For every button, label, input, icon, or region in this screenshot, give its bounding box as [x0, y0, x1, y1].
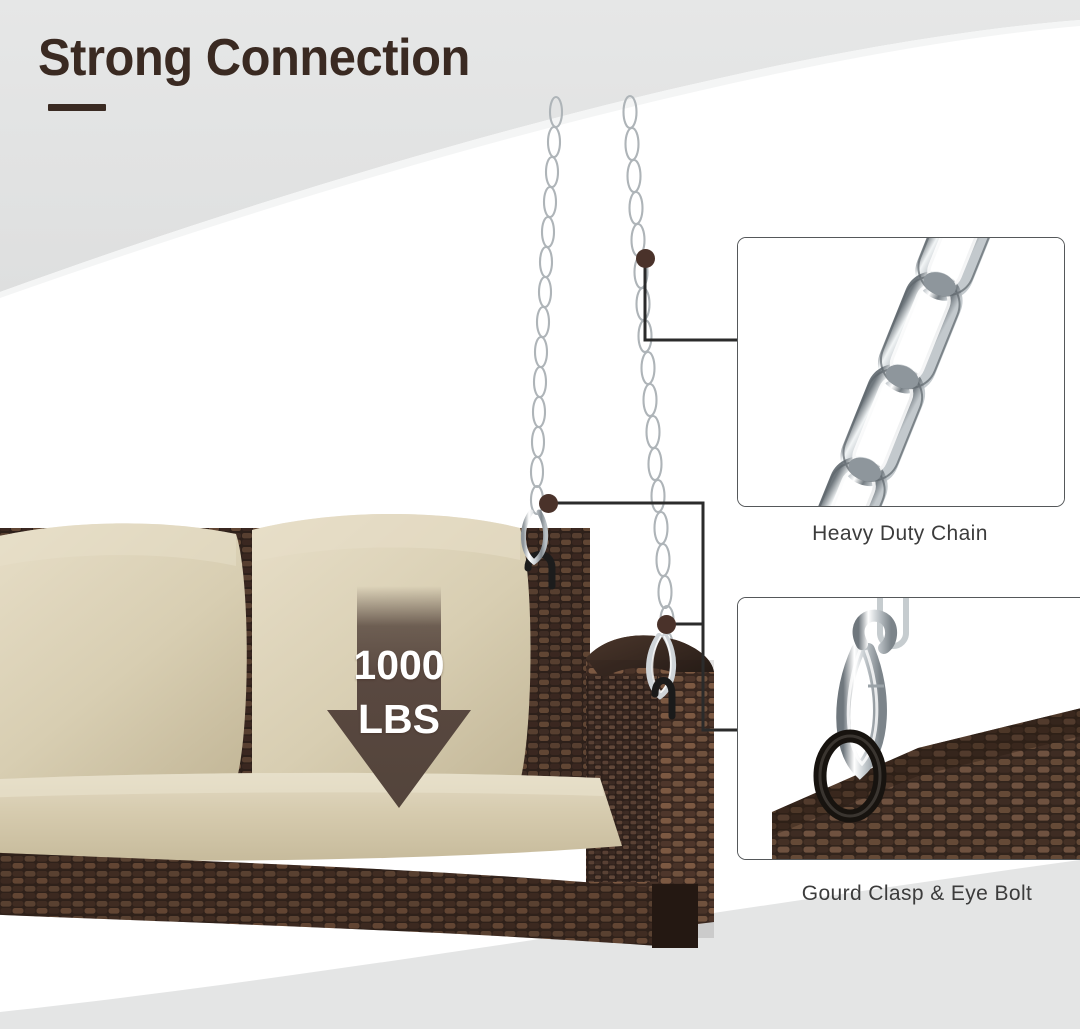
seat-cushion: [0, 773, 622, 861]
callout-box-heavy-duty-chain: [737, 237, 1065, 507]
clasp-marker-dot: [657, 615, 676, 634]
caption-heavy-duty-chain: Heavy Duty Chain: [737, 522, 1063, 546]
title-underline-rule: [48, 104, 106, 111]
armrest-bolt-marker-dot: [539, 494, 558, 513]
chain-upper-marker-dot: [636, 249, 655, 268]
clasp-closeup-image: [738, 598, 1080, 859]
callout-box-gourd-clasp-eye-bolt: [737, 597, 1080, 860]
product-feature-image: 1000 LBS: [0, 0, 1080, 1029]
weight-capacity-badge: 1000 LBS: [327, 586, 471, 810]
caption-gourd-clasp: Gourd Clasp & Eye Bolt: [737, 882, 1080, 906]
hanging-chain-left: [531, 97, 562, 514]
hanging-chain-right: [624, 96, 674, 634]
porch-swing-product-illustration: [0, 0, 1080, 1029]
down-arrow-icon: [327, 586, 471, 810]
page-title: Strong Connection: [38, 28, 470, 88]
chain-closeup-image: [738, 238, 1064, 506]
